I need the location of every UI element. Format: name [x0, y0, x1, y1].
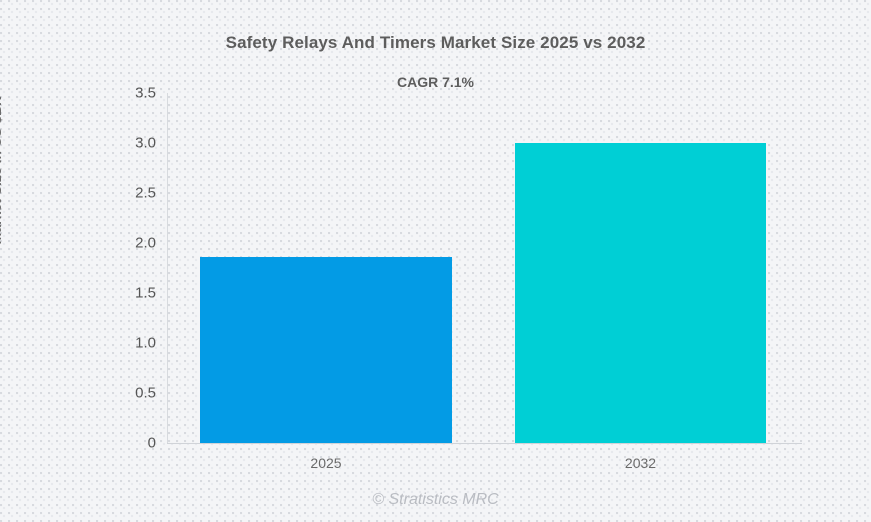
chart-title: Safety Relays And Timers Market Size 202…: [0, 33, 871, 53]
x-tick-label-2032: 2032: [515, 455, 766, 471]
y-tick-label: 3.5: [110, 86, 156, 101]
plot-area: [167, 93, 801, 443]
y-tick-label: 2.0: [110, 236, 156, 251]
bar-2032[interactable]: [515, 143, 766, 443]
x-axis-tick-labels: 2025 2032: [167, 455, 801, 477]
y-axis-title: Market Size In US $BN: [0, 55, 4, 285]
y-tick-label: 2.5: [110, 186, 156, 201]
bar-2025[interactable]: [200, 257, 452, 443]
x-tick-label-2025: 2025: [200, 455, 452, 471]
y-tick-label: 3.0: [110, 136, 156, 151]
y-tick-label: 1.0: [110, 336, 156, 351]
y-tick-label: 1.5: [110, 286, 156, 301]
y-tick-label: 0: [110, 436, 156, 451]
y-axis-tick-labels: 3.5 3.0 2.5 2.0 1.5 1.0 0.5 0: [110, 93, 156, 443]
footer-credit: © Stratistics MRC: [0, 491, 871, 509]
x-axis-line: [167, 443, 802, 444]
chart-figure: Safety Relays And Timers Market Size 202…: [0, 0, 871, 522]
y-tick-label: 0.5: [110, 386, 156, 401]
